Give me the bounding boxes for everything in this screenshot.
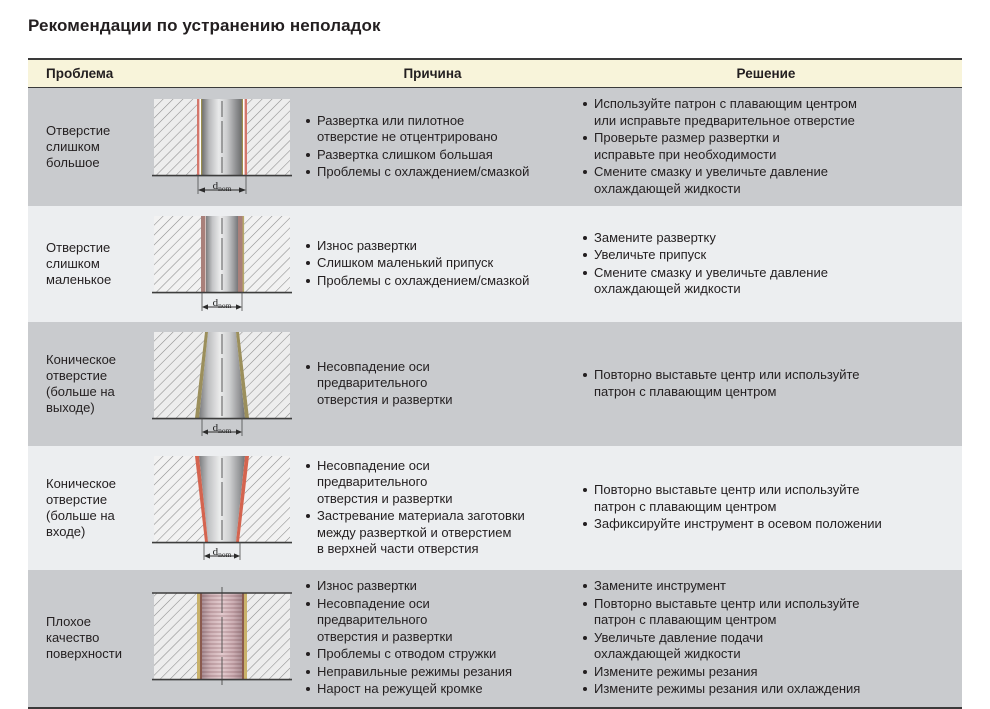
troubleshooting-page: Рекомендации по устранению неполадок Про… xyxy=(0,0,990,697)
solution-cell: Повторно выставьте центр или используйте… xyxy=(570,322,962,446)
solution-list: Повторно выставьте центр или используйте… xyxy=(580,482,954,533)
cause-item: Несовпадение оси предварительного отверс… xyxy=(303,458,562,508)
solution-item: Измените режимы резания или охлаждения xyxy=(580,681,954,698)
solution-item: Используйте патрон с плавающим центром и… xyxy=(580,96,954,129)
figure-cell: dnom xyxy=(143,322,295,446)
table-row: Плохое качество поверхности xyxy=(28,570,962,707)
cause-cell: Износ развертки Слишком маленький припус… xyxy=(295,206,570,322)
solution-item: Замените инструмент xyxy=(580,578,954,595)
column-header-solution: Решение xyxy=(570,60,962,88)
dimension-label: dnom xyxy=(213,297,232,310)
problem-cell: Коническое отверстие (больше на входе) xyxy=(28,446,143,570)
cause-list: Несовпадение оси предварительного отверс… xyxy=(303,458,562,558)
cause-item: Развертка или пилотное отверстие не отце… xyxy=(303,113,562,146)
figure-cell: dnom xyxy=(143,206,295,322)
cause-item: Слишком маленький припуск xyxy=(303,255,562,272)
problem-cell: Отверстие слишком большое xyxy=(28,88,143,207)
cause-item: Износ развертки xyxy=(303,578,562,595)
dimension-label: dnom xyxy=(213,180,232,193)
column-header-cause: Причина xyxy=(295,60,570,88)
cause-list: Износ развертки Несовпадение оси предвар… xyxy=(303,578,562,698)
bore-diagram-undersize: dnom xyxy=(147,212,297,316)
problem-label: Плохое качество поверхности xyxy=(46,614,137,662)
table-row: Отверстие слишком маленькое xyxy=(28,206,962,322)
solution-list: Замените инструмент Повторно выставьте ц… xyxy=(580,578,954,698)
cause-list: Развертка или пилотное отверстие не отце… xyxy=(303,113,562,181)
solution-item: Увеличьте давление подачи охлаждающей жи… xyxy=(580,630,954,663)
bore-diagram-taper-entry: dnom xyxy=(147,452,297,564)
figure-cell: dnom xyxy=(143,88,295,207)
figure-cell: dnom xyxy=(143,446,295,570)
cause-cell: Несовпадение оси предварительного отверс… xyxy=(295,322,570,446)
cause-item: Развертка слишком большая xyxy=(303,147,562,164)
solution-list: Замените развертку Увеличьте припуск Сме… xyxy=(580,230,954,298)
problem-cell: Плохое качество поверхности xyxy=(28,570,143,707)
cause-cell: Несовпадение оси предварительного отверс… xyxy=(295,446,570,570)
solution-item: Зафиксируйте инструмент в осевом положен… xyxy=(580,516,954,533)
bore-diagram-taper-exit: dnom xyxy=(147,328,297,440)
cause-item: Застревание материала заготовки между ра… xyxy=(303,508,562,558)
troubleshooting-table-wrapper: Проблема Причина Решение Отверстие слишк… xyxy=(28,58,962,709)
cause-item: Несовпадение оси предварительного отверс… xyxy=(303,359,562,409)
cause-item: Проблемы с охлаждением/смазкой xyxy=(303,164,562,181)
problem-cell: Отверстие слишком маленькое xyxy=(28,206,143,322)
solution-item: Повторно выставьте центр или используйте… xyxy=(580,482,954,515)
solution-list: Повторно выставьте центр или используйте… xyxy=(580,367,954,400)
header-row: Проблема Причина Решение xyxy=(28,60,962,88)
solution-item: Повторно выставьте центр или используйте… xyxy=(580,367,954,400)
bore-diagram-oversize: dnom xyxy=(147,95,297,199)
solution-item: Проверьте размер развертки и исправьте п… xyxy=(580,130,954,163)
cause-item: Неправильные режимы резания xyxy=(303,664,562,681)
problem-label: Коническое отверстие (больше на выходе) xyxy=(46,352,137,416)
solution-item: Повторно выставьте центр или используйте… xyxy=(580,596,954,629)
cause-cell: Развертка или пилотное отверстие не отце… xyxy=(295,88,570,207)
dimension-label: dnom xyxy=(213,546,232,559)
problem-label: Отверстие слишком маленькое xyxy=(46,240,137,288)
solution-cell: Замените развертку Увеличьте припуск Сме… xyxy=(570,206,962,322)
table-row: Коническое отверстие (больше на входе) xyxy=(28,446,962,570)
table-body: Отверстие слишком большое xyxy=(28,88,962,707)
solution-list: Используйте патрон с плавающим центром и… xyxy=(580,96,954,197)
solution-item: Увеличьте припуск xyxy=(580,247,954,264)
cause-item: Нарост на режущей кромке xyxy=(303,681,562,698)
dimension-label: dnom xyxy=(213,422,232,435)
cause-list: Износ развертки Слишком маленький припус… xyxy=(303,238,562,290)
solution-cell: Замените инструмент Повторно выставьте ц… xyxy=(570,570,962,707)
solution-item: Смените смазку и увеличьте давление охла… xyxy=(580,164,954,197)
page-title: Рекомендации по устранению неполадок xyxy=(28,16,381,36)
solution-item: Измените режимы резания xyxy=(580,664,954,681)
problem-cell: Коническое отверстие (больше на выходе) xyxy=(28,322,143,446)
cause-item: Проблемы с отводом стружки xyxy=(303,646,562,663)
solution-item: Замените развертку xyxy=(580,230,954,247)
solution-cell: Повторно выставьте центр или используйте… xyxy=(570,446,962,570)
table-row: Отверстие слишком большое xyxy=(28,88,962,207)
table-row: Коническое отверстие (больше на выходе) xyxy=(28,322,962,446)
cause-cell: Износ развертки Несовпадение оси предвар… xyxy=(295,570,570,707)
cause-item: Несовпадение оси предварительного отверс… xyxy=(303,596,562,646)
column-header-problem: Проблема xyxy=(28,60,295,88)
cause-item: Проблемы с охлаждением/смазкой xyxy=(303,273,562,290)
cause-item: Износ развертки xyxy=(303,238,562,255)
problem-label: Коническое отверстие (больше на входе) xyxy=(46,476,137,540)
troubleshooting-table: Проблема Причина Решение Отверстие слишк… xyxy=(28,60,962,707)
figure-cell xyxy=(143,570,295,707)
problem-label: Отверстие слишком большое xyxy=(46,123,137,171)
bore-diagram-rough-surface xyxy=(147,583,297,693)
solution-cell: Используйте патрон с плавающим центром и… xyxy=(570,88,962,207)
solution-item: Смените смазку и увеличьте давление охла… xyxy=(580,265,954,298)
cause-list: Несовпадение оси предварительного отверс… xyxy=(303,359,562,409)
table-header: Проблема Причина Решение xyxy=(28,60,962,88)
